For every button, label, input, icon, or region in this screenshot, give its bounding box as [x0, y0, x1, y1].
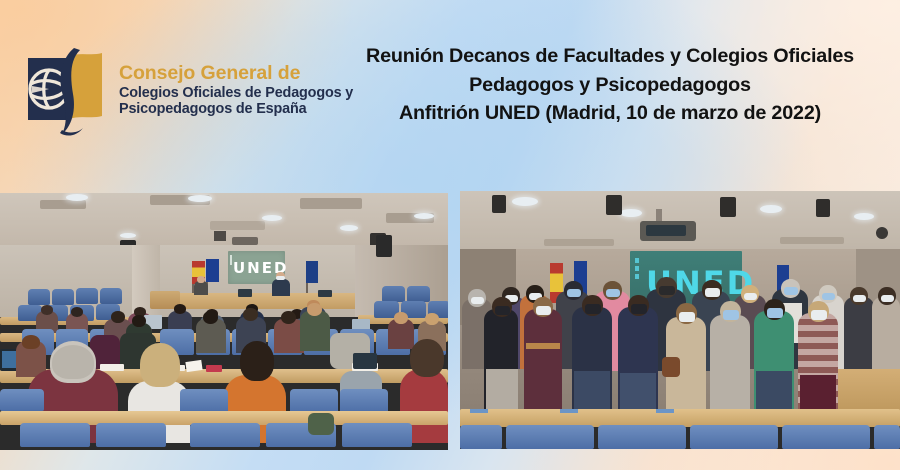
- logo-line-1: Consejo General de: [119, 62, 353, 84]
- title-line-1: Reunión Decanos de Facultades y Colegios…: [330, 42, 890, 71]
- title-line-2: Pedagogos y Psicopedagogos: [330, 71, 890, 100]
- consejo-general-logo-icon: [22, 42, 110, 138]
- logo-wordmark: Consejo General de Colegios Oficiales de…: [119, 62, 353, 117]
- page-title: Reunión Decanos de Facultades y Colegios…: [330, 42, 890, 128]
- logo-line-2: Colegios Oficiales de Pedagogos y: [119, 85, 353, 101]
- logo-line-3: Psicopedagogos de España: [119, 101, 353, 117]
- organization-logo: Consejo General de Colegios Oficiales de…: [22, 40, 342, 140]
- header-banner: Consejo General de Colegios Oficiales de…: [0, 0, 900, 193]
- group-photo: UNED: [460, 191, 900, 449]
- auditorium-audience-photo: UNED: [0, 193, 448, 450]
- title-line-3: Anfitrión UNED (Madrid, 10 de marzo de 2…: [330, 99, 890, 128]
